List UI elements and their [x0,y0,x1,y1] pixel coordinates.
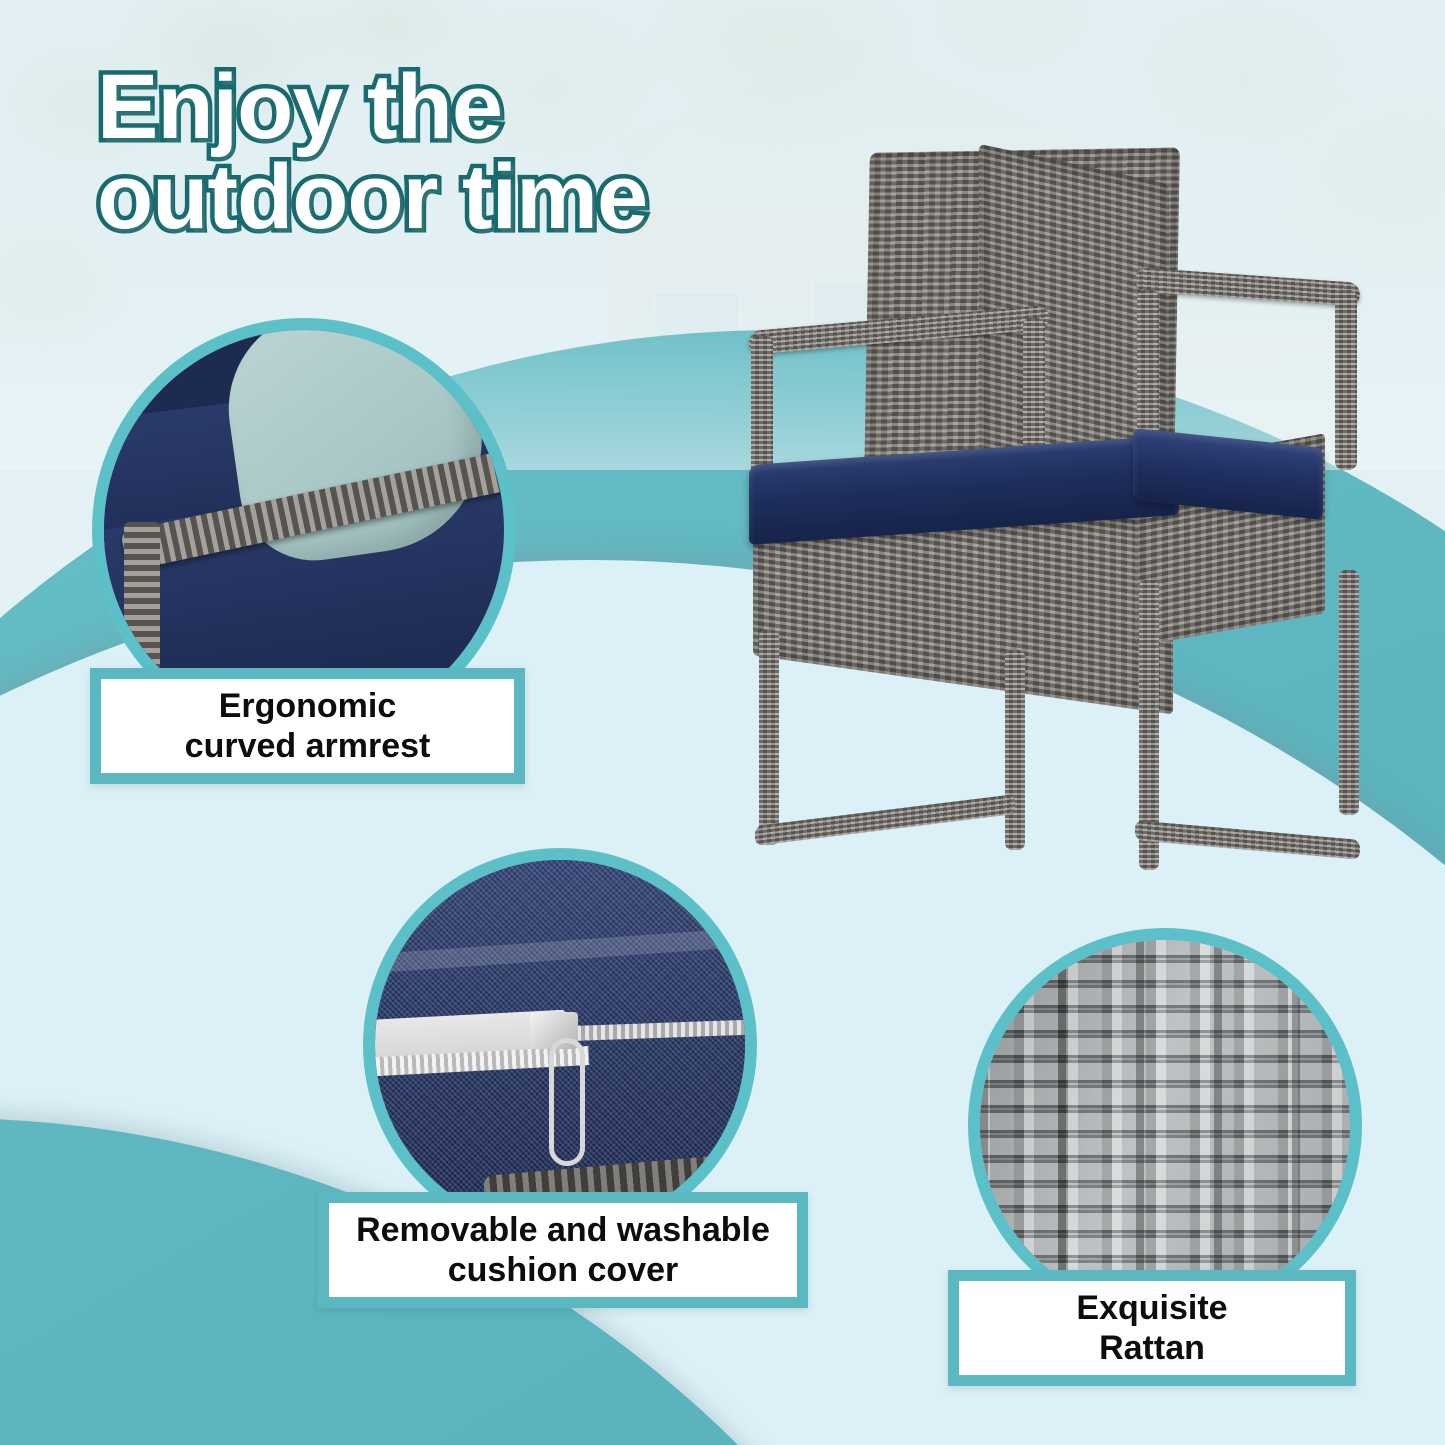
feature-caption-rattan: Exquisite Rattan [948,1270,1356,1386]
chair-leg [759,630,779,845]
chair-leg [1339,570,1359,815]
feature-caption-zipper: Removable and washable cushion cover [318,1192,808,1308]
zipper-closeup [375,860,745,1230]
patio-armchair-photo [735,150,1415,870]
promo-banner: Enjoy the outdoor time Ergonomic cur [0,0,1445,1445]
feature-image-zipper [375,860,745,1230]
rattan-vertical-strands [980,940,1350,1310]
chair-leg [1005,650,1025,850]
zipper-pull-icon [549,1038,585,1166]
feature-image-rattan [980,940,1350,1310]
rattan-weave-closeup [980,940,1350,1310]
chair-base-runner [1135,820,1360,860]
chair-base-runner [755,794,1015,846]
feature-caption-armrest: Ergonomic curved armrest [90,668,525,784]
chair-arm-post [1335,290,1357,470]
